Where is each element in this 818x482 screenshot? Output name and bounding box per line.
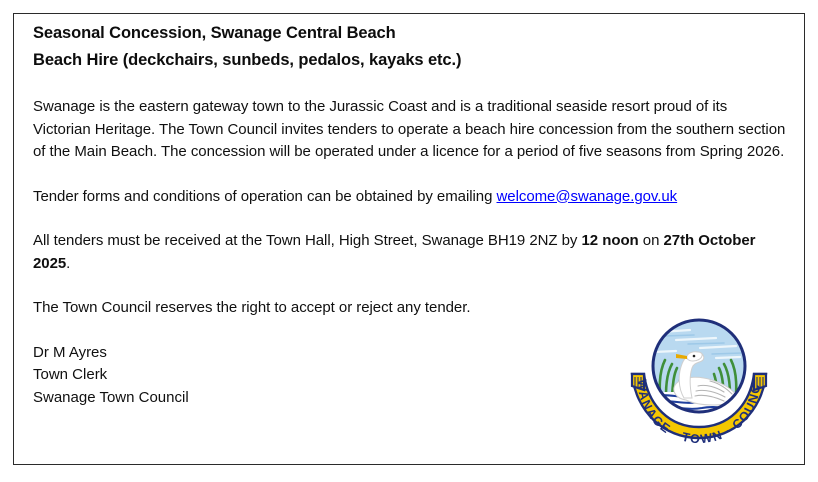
- spacer-after-intro: [33, 164, 787, 186]
- spacer-after-tender-forms: [33, 208, 787, 230]
- deadline-suffix: .: [66, 255, 70, 272]
- deadline-time: 12 noon: [582, 232, 639, 249]
- deadline-joiner: on: [639, 232, 664, 249]
- deadline-text: All tenders must be received at the Town…: [33, 232, 582, 249]
- spacer-after-deadline: [33, 275, 787, 297]
- notice-border-frame: Seasonal Concession, Swanage Central Bea…: [13, 13, 805, 465]
- deadline-paragraph: All tenders must be received at the Town…: [33, 230, 787, 275]
- spacer-after-headings: [33, 74, 787, 96]
- intro-paragraph: Swanage is the eastern gateway town to t…: [33, 96, 787, 164]
- notice-headline-secondary: Beach Hire (deckchairs, sunbeds, pedalos…: [33, 47, 787, 74]
- tender-forms-paragraph: Tender forms and conditions of operation…: [33, 186, 787, 209]
- email-link[interactable]: welcome@swanage.gov.uk: [497, 188, 678, 205]
- swanage-town-council-crest-icon: SWANAGE · TOWN · COUNCIL: [624, 308, 774, 444]
- notice-headline-primary: Seasonal Concession, Swanage Central Bea…: [33, 20, 787, 47]
- tender-forms-text: Tender forms and conditions of operation…: [33, 188, 497, 205]
